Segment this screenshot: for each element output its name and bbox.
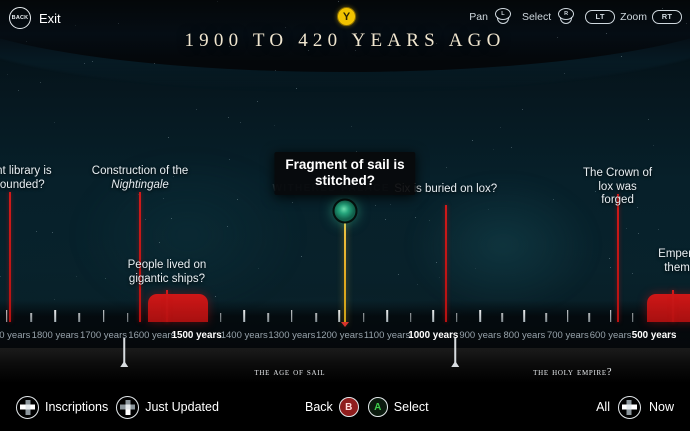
selected-event-caret-icon <box>341 322 349 327</box>
event-label[interactable]: Emperorsthemse <box>658 248 690 275</box>
page-title: 1900 TO 420 YEARS AGO <box>0 30 690 52</box>
top-bar: BACK Exit Y Pan L Select R LT Zoom RT <box>0 0 690 30</box>
event-label[interactable]: Construction of theNightingale <box>92 165 189 192</box>
right-stick-base <box>560 17 572 24</box>
footer-inscriptions-label: Inscriptions <box>45 400 108 414</box>
axis-tick-label: 900 years <box>459 330 501 341</box>
axis-tick <box>243 310 245 322</box>
bottom-bar: Inscriptions Just Updated Back B A Selec… <box>0 383 690 431</box>
exit-label: Exit <box>39 11 61 26</box>
event-marker[interactable] <box>139 192 141 322</box>
event-span-block[interactable] <box>647 294 690 322</box>
axis-tick-label: 500 years <box>632 330 677 341</box>
axis-tick-minor <box>632 313 634 322</box>
axis-tick-label: 1000 years <box>408 330 458 341</box>
footer-just-updated-label: Just Updated <box>145 400 219 414</box>
hint-pan-label: Pan <box>469 11 488 23</box>
era-divider <box>455 338 457 366</box>
control-hints: Pan L Select R LT Zoom RT <box>469 8 682 25</box>
selected-event-node[interactable] <box>333 199 358 224</box>
axis-tick-label: 800 years <box>504 330 546 341</box>
axis-tick <box>386 310 388 322</box>
axis-tick-minor <box>79 313 81 322</box>
selected-event-tooltip: Fragment of sail is stitched? <box>274 152 415 195</box>
axis-tick-label: 700 years <box>547 330 589 341</box>
b-button-icon[interactable]: B <box>339 397 359 417</box>
axis-tick-label: 600 years <box>590 330 632 341</box>
lt-trigger-icon[interactable]: LT <box>585 10 615 24</box>
footer-center-group: Back B A Select <box>305 397 429 417</box>
footer-inscriptions[interactable]: Inscriptions <box>16 396 108 419</box>
axis-tick <box>339 310 341 322</box>
left-stick-base <box>497 17 509 24</box>
a-button-icon[interactable]: A <box>368 397 388 417</box>
axis-tick <box>479 310 481 322</box>
axis-tick-label: 1700 years <box>80 330 127 341</box>
hint-zoom-label: Zoom <box>620 11 647 23</box>
axis-tick-label: 1600 years <box>128 330 175 341</box>
footer-back-label: Back <box>305 400 333 414</box>
axis-tick-label: 1300 years <box>268 330 315 341</box>
event-marker[interactable] <box>445 205 447 322</box>
axis-tick <box>6 310 8 322</box>
hint-zoom: LT Zoom RT <box>585 10 682 24</box>
axis-tick-label: 1400 years <box>221 330 268 341</box>
hint-select-label: Select <box>522 11 551 23</box>
axis-tick <box>524 310 526 322</box>
era-name: The Age of Sail <box>254 367 325 383</box>
axis-tick-minor <box>546 313 548 322</box>
rt-trigger-icon[interactable]: RT <box>652 10 682 24</box>
axis-tick-minor <box>410 313 412 322</box>
hint-pan: Pan L <box>469 8 513 25</box>
timeline-canvas[interactable]: 1900 years1800 years1700 years1600 years… <box>0 0 690 348</box>
axis-tick-minor <box>588 313 590 322</box>
event-marker[interactable] <box>617 194 619 322</box>
event-marker[interactable] <box>9 192 11 322</box>
event-label[interactable]: The Crown of lox wasforged <box>581 167 653 208</box>
footer-select[interactable]: A Select <box>368 397 429 417</box>
dpad-left-right-icon <box>618 396 641 419</box>
footer-left-group: Inscriptions Just Updated <box>16 396 219 419</box>
left-stick-icon: L <box>493 8 513 25</box>
axis-tick-minor <box>315 313 317 322</box>
axis-tick-minor <box>220 313 222 322</box>
axis-tick-label: 1500 years <box>172 330 222 341</box>
footer-back[interactable]: Back B <box>305 397 359 417</box>
axis-tick-minor <box>456 313 458 322</box>
era-bar: The Age of SailThe Holy Empire? <box>0 348 690 383</box>
axis-tick-label: 1800 years <box>32 330 79 341</box>
exit-control[interactable]: BACK Exit <box>9 7 61 29</box>
axis-tick-label: 1100 years <box>364 330 410 341</box>
axis-tick-minor <box>363 313 365 322</box>
axis-tick-minor <box>127 313 129 322</box>
footer-select-label: Select <box>394 400 429 414</box>
era-segment[interactable]: The Holy Empire? <box>455 348 690 383</box>
era-divider <box>123 338 125 366</box>
axis-tick <box>610 310 612 322</box>
axis-tick <box>54 310 56 322</box>
hint-select: Select R <box>522 8 576 25</box>
footer-just-updated[interactable]: Just Updated <box>116 396 219 419</box>
era-name: The Holy Empire? <box>533 367 612 383</box>
event-marker[interactable] <box>672 290 674 322</box>
axis-tick-minor <box>30 313 32 322</box>
event-marker[interactable] <box>166 290 168 322</box>
axis-tick-minor <box>268 313 270 322</box>
footer-now-label: Now <box>649 400 674 414</box>
event-label[interactable]: ent library isfounded? <box>0 165 52 192</box>
event-span-block[interactable] <box>148 294 208 322</box>
selected-event-line[interactable] <box>344 214 346 325</box>
right-stick-icon: R <box>556 8 576 25</box>
y-button-icon[interactable]: Y <box>337 7 356 26</box>
event-label[interactable]: People lived ongigantic ships? <box>128 259 207 286</box>
axis-tick-label: 1200 years <box>316 330 363 341</box>
axis-tick <box>103 310 105 322</box>
axis-tick-minor <box>502 313 504 322</box>
dpad-down-icon <box>116 396 139 419</box>
axis-tick <box>567 310 569 322</box>
era-segment[interactable]: The Age of Sail <box>124 348 455 383</box>
dpad-left-right-icon <box>16 396 39 419</box>
back-button-icon[interactable]: BACK <box>9 7 31 29</box>
footer-all-label: All <box>596 400 610 414</box>
axis-tick-label: 1900 years <box>0 330 30 341</box>
footer-range-toggle[interactable]: All Now <box>596 396 674 419</box>
axis-tick <box>433 310 435 322</box>
axis-tick <box>291 310 293 322</box>
